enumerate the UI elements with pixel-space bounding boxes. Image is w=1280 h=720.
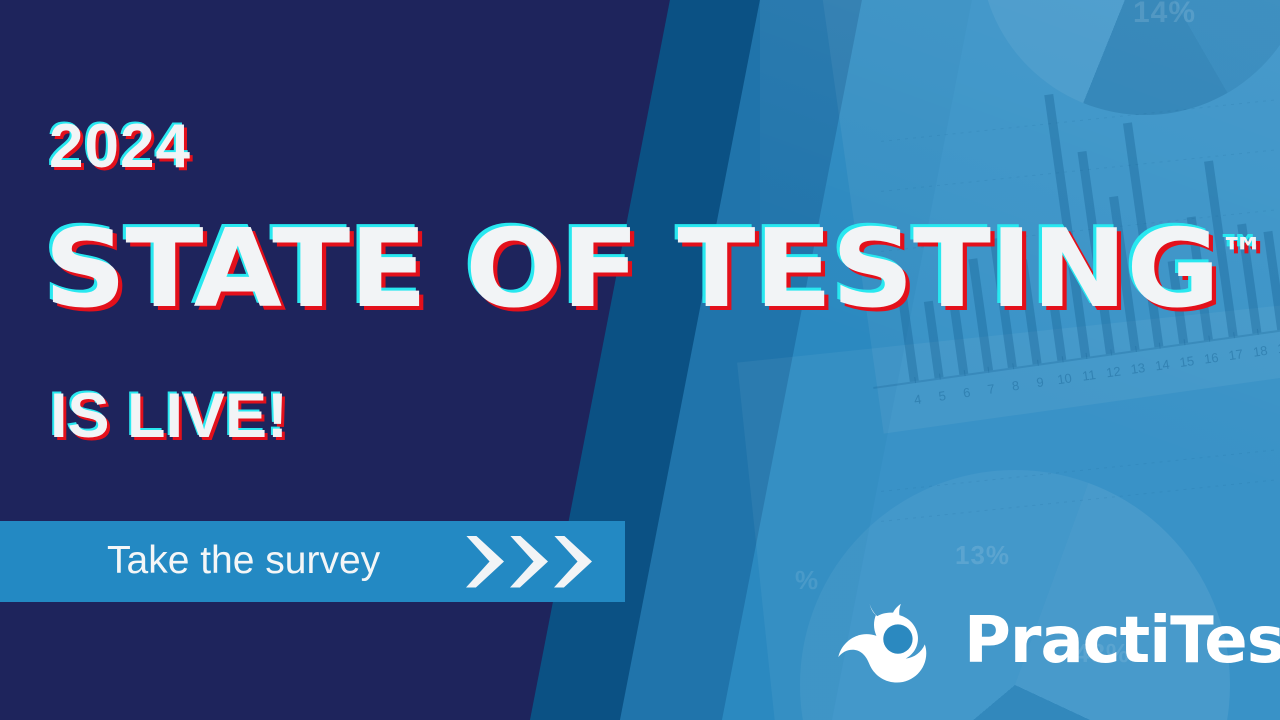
practitest-bird-logo-icon xyxy=(836,598,954,684)
practitest-wordmark: PractiTest xyxy=(964,609,1280,673)
take-survey-button[interactable]: Take the survey xyxy=(0,521,625,602)
year-label: 2024 xyxy=(49,116,191,178)
trademark-symbol: ™ xyxy=(1219,229,1266,280)
practitest-logo[interactable]: PractiTest xyxy=(836,598,1280,684)
promo-banner: 14% 13% 48% % 45678910111213141516171819… xyxy=(0,0,1280,720)
page-title: STATE OF TESTING™ xyxy=(44,216,1266,324)
chevron-right-icon xyxy=(466,536,504,588)
chevron-right-icon xyxy=(510,536,548,588)
page-title-text: STATE OF TESTING xyxy=(44,207,1219,332)
chevron-right-icon xyxy=(554,536,592,588)
take-survey-label: Take the survey xyxy=(107,539,380,583)
triple-chevron-right-icon xyxy=(466,536,592,588)
subtitle-is-live: IS LIVE! xyxy=(50,385,288,448)
